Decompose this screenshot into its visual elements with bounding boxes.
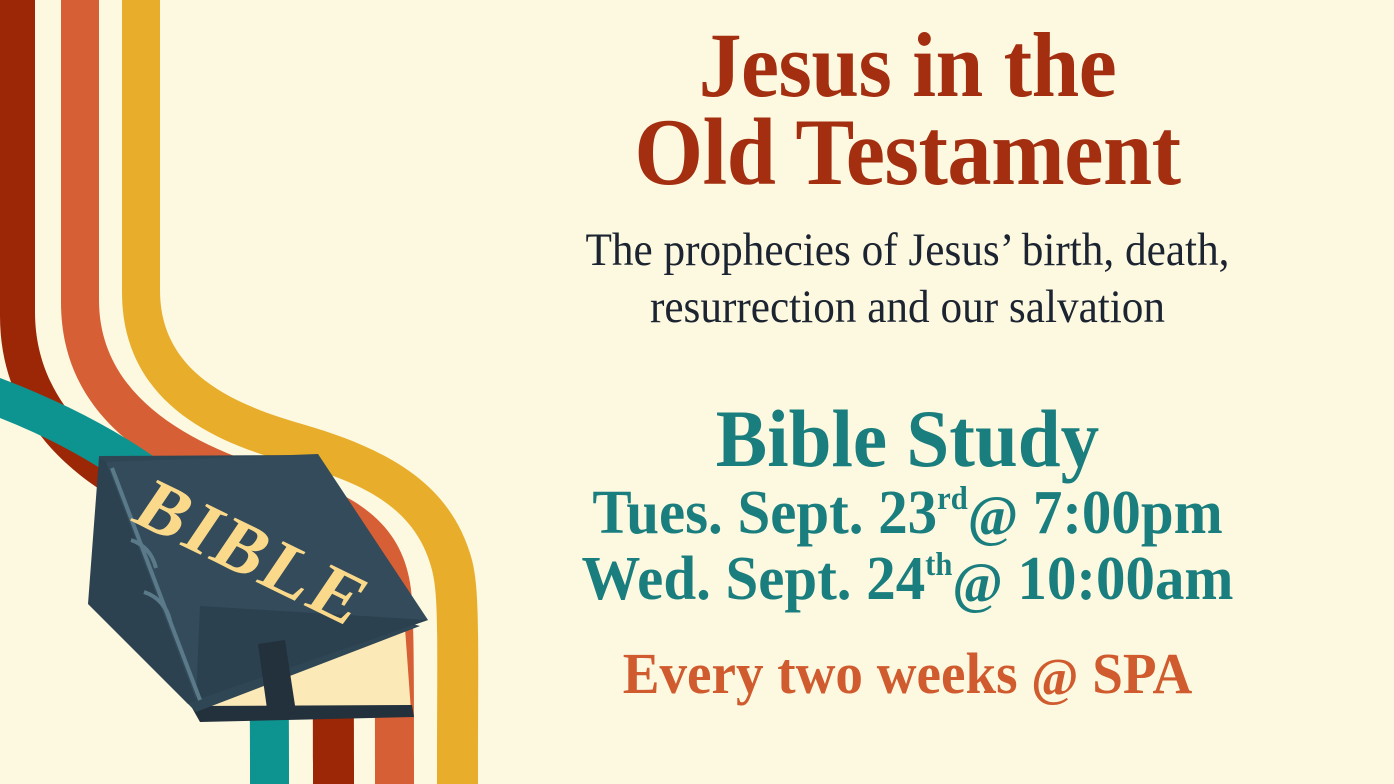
bible-study-section: Bible Study Tues. Sept. 23rd@ 7:00pm Wed… bbox=[455, 398, 1360, 613]
teal-stripe bbox=[0, 378, 289, 784]
book-cover-shade bbox=[196, 606, 428, 700]
session-1-time-value: 7:00pm bbox=[1033, 479, 1223, 547]
session-1-day: Tues. Sept. 23 bbox=[592, 479, 937, 547]
footer-text-after: SPA bbox=[1092, 641, 1192, 706]
session-2-day: Wed. Sept. 24 bbox=[582, 545, 926, 613]
session-2-time bbox=[1003, 545, 1018, 613]
session-line-2: Wed. Sept. 24th@ 10:00am bbox=[478, 546, 1338, 612]
book-bookmark bbox=[258, 640, 296, 716]
session-line-1: Tues. Sept. 23rd@ 7:00pm bbox=[478, 480, 1338, 546]
at-icon-1: @ bbox=[968, 488, 1018, 545]
footer-space-1 bbox=[1018, 641, 1032, 706]
bible-study-heading: Bible Study bbox=[482, 398, 1333, 480]
poster-canvas: BIBLE Jesus in the Old Testament The pro… bbox=[0, 0, 1394, 784]
at-icon-3: @ bbox=[1031, 651, 1078, 704]
book-pages-front bbox=[180, 625, 411, 716]
book-spine bbox=[88, 458, 196, 704]
session-1-ordinal: rd bbox=[937, 480, 968, 516]
book-title-group: BIBLE bbox=[119, 466, 386, 642]
rust-stripe bbox=[0, 0, 354, 784]
book-cover bbox=[92, 455, 420, 712]
session-2-time-value: 10:00am bbox=[1018, 545, 1234, 613]
page-title: Jesus in the Old Testament bbox=[455, 22, 1360, 198]
session-1-time bbox=[1018, 479, 1033, 547]
book-cover-face bbox=[106, 454, 428, 700]
footer-space-2 bbox=[1078, 641, 1092, 706]
book-spine-rib-2 bbox=[131, 540, 156, 568]
footer-line: Every two weeks @ SPA bbox=[478, 645, 1338, 704]
at-icon-2: @ bbox=[952, 555, 1002, 612]
session-2-ordinal: th bbox=[925, 546, 952, 582]
book-page-line bbox=[226, 666, 262, 681]
book-spine-rib-1 bbox=[112, 468, 200, 700]
book-spine-rib-3 bbox=[144, 592, 170, 620]
poster-text-column: Jesus in the Old Testament The prophecie… bbox=[455, 0, 1360, 784]
orange-stripe bbox=[61, 0, 414, 784]
subtitle-line-2: resurrection and our salvation bbox=[491, 279, 1324, 336]
page-subtitle: The prophecies of Jesus’ birth, death, r… bbox=[455, 222, 1360, 337]
bible-book: BIBLE bbox=[88, 454, 428, 722]
book-bottom-edge bbox=[191, 705, 414, 722]
book-title-text: BIBLE bbox=[119, 466, 386, 642]
footer-section: Every two weeks @ SPA bbox=[455, 645, 1360, 704]
title-line-2: Old Testament bbox=[487, 108, 1329, 197]
footer-text-before: Every two weeks bbox=[623, 641, 1018, 706]
subtitle-line-1: The prophecies of Jesus’ birth, death, bbox=[491, 222, 1324, 279]
gold-stripe bbox=[122, 0, 478, 784]
title-line-1: Jesus in the bbox=[487, 22, 1329, 108]
book-pages bbox=[104, 605, 411, 716]
rainbow-ribbons bbox=[0, 0, 478, 784]
